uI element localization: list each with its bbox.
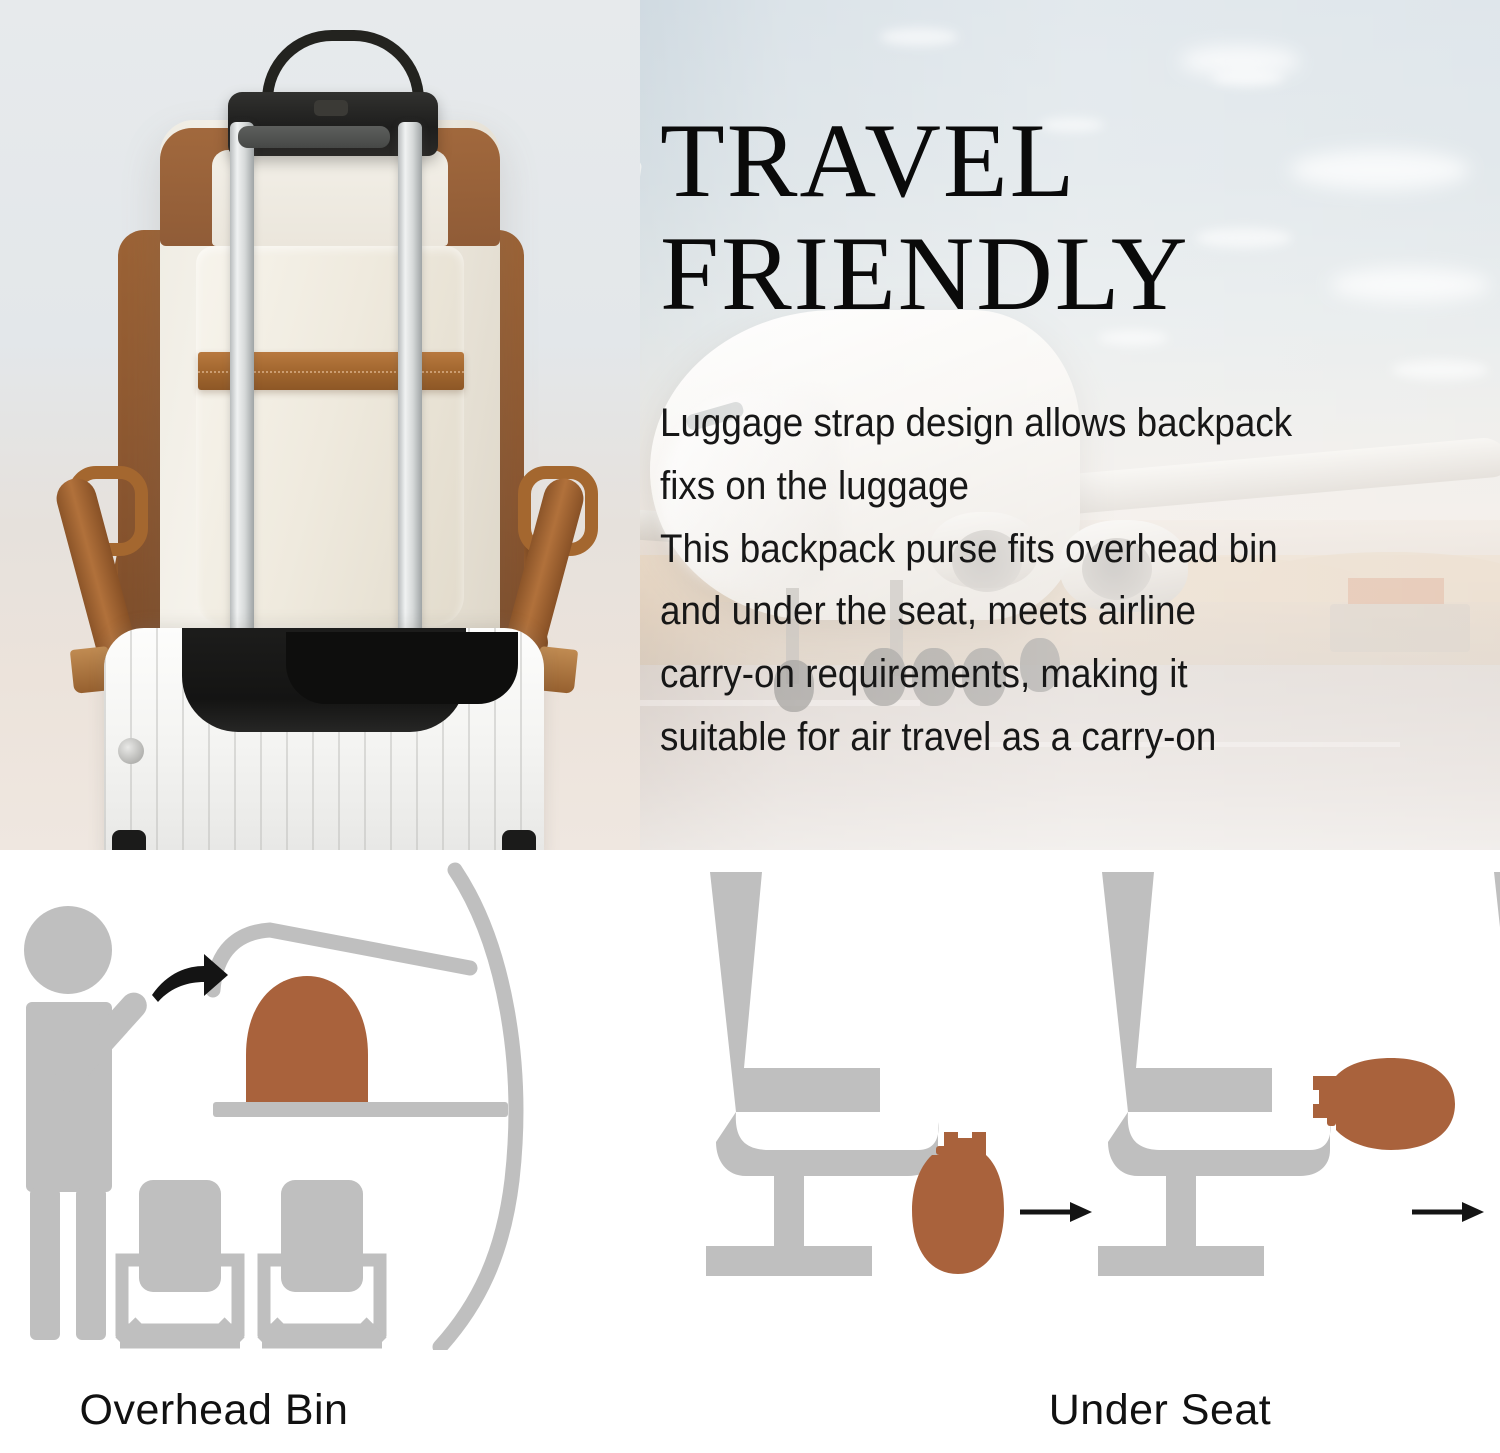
seat-backrest	[1494, 872, 1500, 1112]
backpack-top-strap	[1327, 1082, 1336, 1126]
diagram-under-seat: Under Seat	[700, 850, 1500, 1453]
overhead-bin-shelf	[213, 1102, 508, 1117]
description-line: carry-on requirements, making it	[660, 643, 1414, 706]
seat-pedestal	[774, 1172, 804, 1250]
hero-copy-block: TRAVEL FRIENDLY Luggage strap design all…	[660, 0, 1480, 850]
diagram-overhead-bin: Overhead Bin	[0, 850, 700, 1453]
seat-side	[1098, 872, 1330, 1276]
suitcase-wheel	[112, 830, 146, 850]
description-line: and under the seat, meets airline	[660, 580, 1414, 643]
caption-overhead-bin: Overhead Bin	[0, 1386, 564, 1435]
seat	[262, 1180, 382, 1342]
seat-back	[139, 1180, 221, 1292]
under-seat-svg	[700, 850, 1500, 1350]
backpack-top-strap	[936, 1146, 980, 1155]
handle-nub	[314, 100, 348, 116]
seat-foot	[1098, 1246, 1264, 1276]
page-title: TRAVEL FRIENDLY	[660, 104, 1480, 331]
seat-pedestal	[1166, 1172, 1196, 1250]
suitcase-handle-well	[286, 632, 518, 704]
passenger-head	[24, 906, 112, 994]
telescoping-handle-grip	[238, 126, 390, 148]
seat-backrest	[710, 872, 880, 1112]
overhead-bin-lid	[213, 930, 470, 990]
product-photo	[0, 0, 640, 850]
passenger-leg-left	[30, 1188, 60, 1340]
description-line: Luggage strap design allows backpack	[660, 392, 1414, 455]
caption-under-seat: Under Seat	[760, 1386, 1500, 1435]
seat	[120, 1180, 240, 1342]
suitcase-wheel	[502, 830, 536, 850]
backpack-lying	[1313, 1058, 1455, 1150]
seat-side	[1494, 872, 1500, 1112]
headline-line-1: TRAVEL	[660, 102, 1076, 219]
hero-panel: TRAVEL FRIENDLY Luggage strap design all…	[0, 0, 1500, 850]
diagram-panel: Overhead Bin	[0, 850, 1500, 1453]
seat-cushion	[716, 1112, 938, 1176]
description-line: This backpack purse fits overhead bin	[660, 518, 1414, 581]
hero-description: Luggage strap design allows backpack fix…	[660, 392, 1414, 769]
arrow-icon	[1412, 1202, 1484, 1222]
headline-line-2: FRIENDLY	[660, 215, 1190, 332]
suitcase	[104, 628, 544, 850]
suitcase-lock-icon	[118, 738, 144, 764]
seat-foot	[706, 1246, 872, 1276]
seat-backrest	[1102, 872, 1272, 1112]
description-line: fixs on the luggage	[660, 455, 1414, 518]
seat-side	[706, 872, 938, 1276]
description-line: suitable for air travel as a carry-on	[660, 706, 1414, 769]
product-marketing-image: TRAVEL FRIENDLY Luggage strap design all…	[0, 0, 1500, 1453]
seat-cushion	[1108, 1112, 1330, 1176]
arrow-icon	[1020, 1202, 1092, 1222]
seat-back	[281, 1180, 363, 1292]
backpack-in-bin	[246, 976, 368, 1102]
suitcase-handle-recess	[182, 628, 466, 732]
passenger-leg-right	[76, 1188, 106, 1340]
overhead-bin-svg	[0, 850, 700, 1350]
